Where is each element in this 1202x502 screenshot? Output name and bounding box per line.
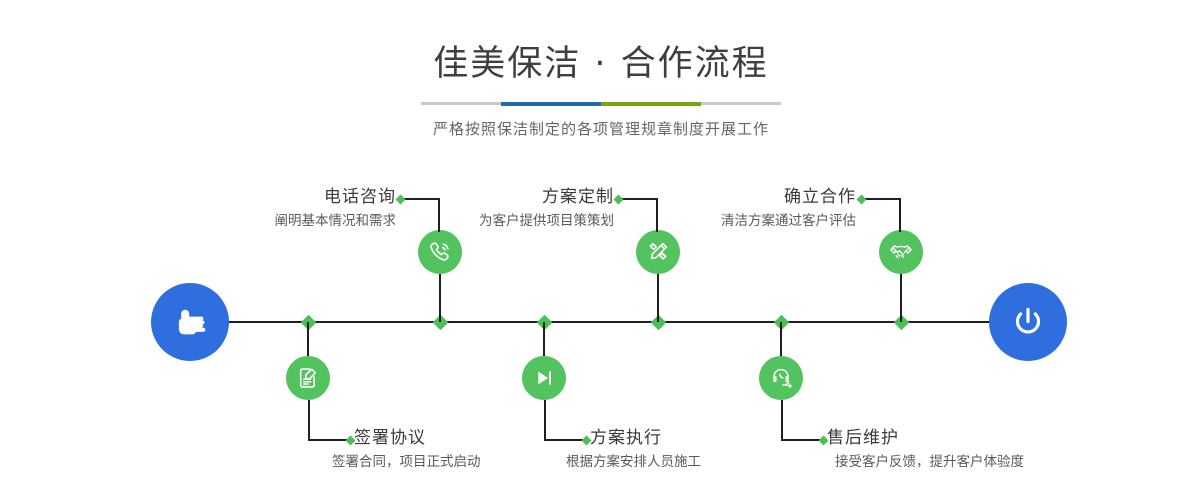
handshake-icon [888,239,914,265]
divider-segment-blue [501,102,601,106]
node-stem-3 [657,268,659,322]
node-stem-1 [439,268,441,322]
flow-diagram-canvas: 佳美保洁 · 合作流程 严格按照保洁制定的各项管理规章制度开展工作 [0,0,1202,502]
node-stem-2 [307,322,309,358]
node-stem-5 [900,268,902,322]
step-title-5: 确立合作 [620,186,856,208]
step-desc-1: 阐明基本情况和需求 [160,208,396,231]
step-icon-3[interactable] [636,230,680,274]
flow-start-node[interactable] [151,283,229,361]
document-edit-icon [295,365,321,391]
step-icon-6[interactable] [759,356,803,400]
flow-end-node[interactable] [989,283,1067,361]
diagram-header: 佳美保洁 · 合作流程 严格按照保洁制定的各项管理规章制度开展工作 [0,0,1202,139]
step-title-6: 售后维护 [827,427,1157,449]
headset-plus-icon [768,365,794,391]
page-subtitle: 严格按照保洁制定的各项管理规章制度开展工作 [0,105,1202,139]
step-title-1: 电话咨询 [160,186,396,208]
step-label-3: 方案定制 为客户提供项目策策划 [378,186,614,231]
step-desc-3: 为客户提供项目策策划 [378,208,614,231]
step-icon-5[interactable] [879,230,923,274]
step-desc-5: 清洁方案通过客户评估 [620,208,856,231]
step-label-1: 电话咨询 阐明基本情况和需求 [160,186,396,231]
step-icon-1[interactable] [418,230,462,274]
title-divider [421,102,781,105]
step-label-6: 售后维护 接受客户反馈，提升客户体验度 [827,427,1157,472]
step-icon-4[interactable] [522,356,566,400]
step-title-3: 方案定制 [378,186,614,208]
play-forward-icon [531,365,557,391]
divider-segment-green [601,102,701,106]
step-icon-2[interactable] [286,356,330,400]
pencil-ruler-icon [645,239,671,265]
phone-ringing-icon [427,239,453,265]
pointing-hand-icon [169,301,211,343]
page-title: 佳美保洁 · 合作流程 [0,0,1202,84]
step-label-5: 确立合作 清洁方案通过客户评估 [620,186,856,231]
power-icon [1007,301,1049,343]
node-stem-4 [543,322,545,358]
step-desc-6: 接受客户反馈，提升客户体验度 [835,449,1157,472]
node-stem-6 [780,322,782,358]
